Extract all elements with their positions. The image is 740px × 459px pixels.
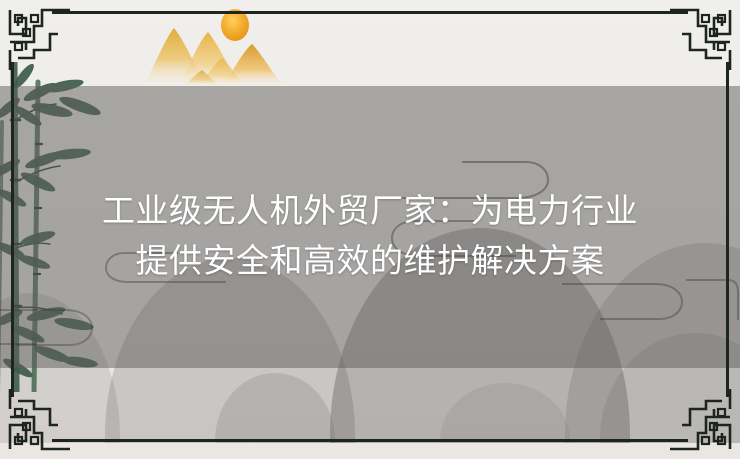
auspicious-cloud-icon [0,300,130,350]
chinese-fret-corner-icon [670,389,736,455]
left-border-rule [11,62,14,397]
right-border-rule [726,62,729,397]
chinese-fret-corner-icon [4,4,70,70]
chinese-fret-corner-icon [4,389,70,455]
poster-canvas: 工业级无人机外贸厂家：为电力行业 提供安全和高效的维护解决方案 [0,0,740,459]
bottom-border-rule [52,439,688,442]
headline-line-1: 工业级无人机外贸厂家：为电力行业 [0,186,740,236]
gold-mountain-scene [140,6,290,90]
poster-headline: 工业级无人机外贸厂家：为电力行业 提供安全和高效的维护解决方案 [0,186,740,286]
top-border-rule [52,11,688,14]
headline-line-2: 提供安全和高效的维护解决方案 [0,236,740,286]
chinese-fret-corner-icon [670,4,736,70]
